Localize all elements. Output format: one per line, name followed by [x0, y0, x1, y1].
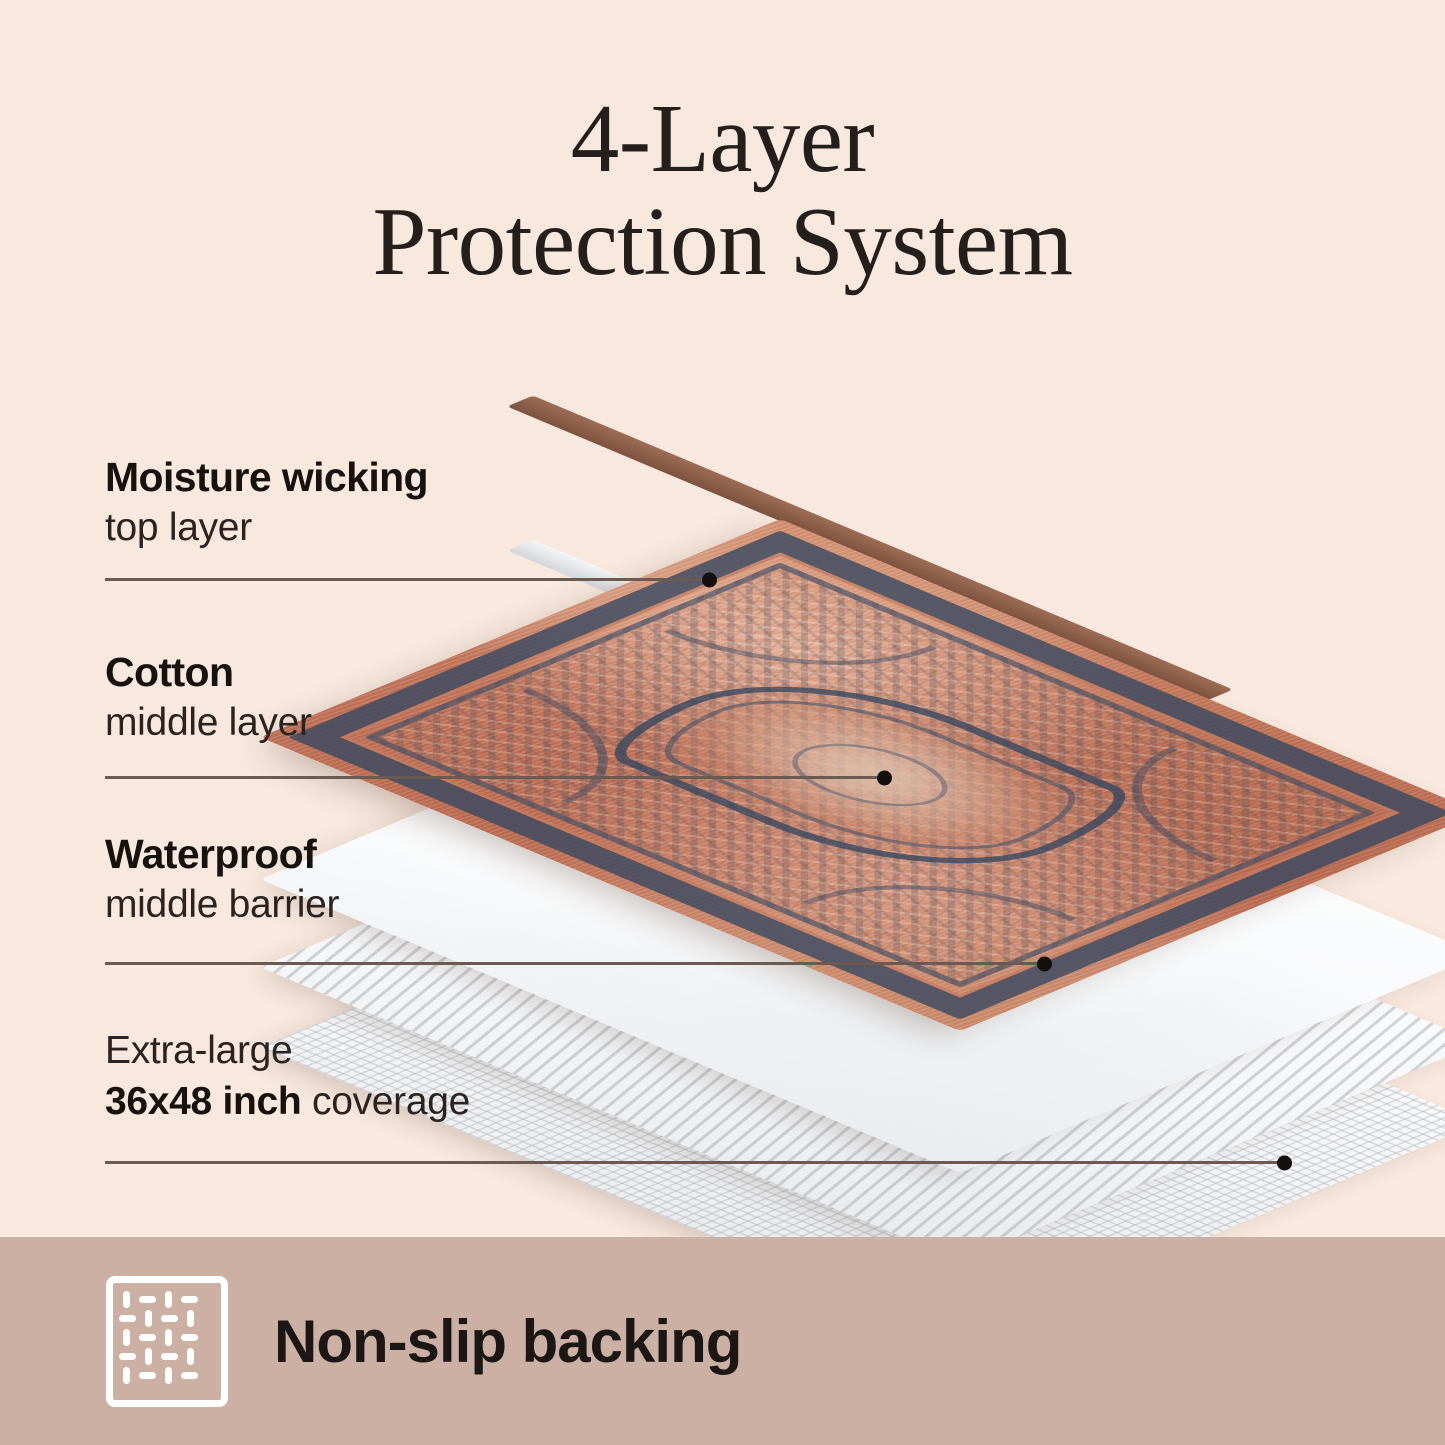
- callout-moisture-wicking: Moisture wicking top layer: [105, 455, 428, 552]
- page-title: 4-Layer Protection System: [0, 88, 1445, 294]
- leader-line-moisture-wicking: [105, 578, 710, 581]
- layer-stack-illustration: [480, 355, 1445, 1235]
- callout-size-coverage: Extra-large 36x48 inch coverage: [105, 1028, 470, 1126]
- leader-dot-waterproof: [1037, 956, 1052, 971]
- callout-title-cotton: Cotton: [105, 650, 312, 696]
- callout-waterproof: Waterproof middle barrier: [105, 832, 339, 929]
- leader-line-cotton: [105, 776, 885, 779]
- leader-dot-moisture-wicking: [702, 572, 717, 587]
- leader-line-waterproof: [105, 962, 1045, 965]
- callout-title-waterproof: Waterproof: [105, 832, 339, 878]
- footer-bar: Non-slip backing: [0, 1237, 1445, 1445]
- callout-size-line-2: 36x48 inch coverage: [105, 1079, 470, 1126]
- callout-subtitle-waterproof: middle barrier: [105, 882, 339, 929]
- callout-size-coverage-word: coverage: [301, 1080, 470, 1123]
- callout-size-line-1: Extra-large: [105, 1028, 470, 1075]
- title-line-1: 4-Layer: [0, 88, 1445, 191]
- callout-cotton: Cotton middle layer: [105, 650, 312, 747]
- callout-title-moisture-wicking: Moisture wicking: [105, 455, 428, 501]
- leader-dot-size: [1277, 1155, 1292, 1170]
- title-line-2: Protection System: [0, 191, 1445, 294]
- callout-subtitle-cotton: middle layer: [105, 700, 312, 747]
- callout-subtitle-moisture-wicking: top layer: [105, 505, 428, 552]
- leader-dot-cotton: [877, 770, 892, 785]
- footer-label: Non-slip backing: [274, 1307, 741, 1376]
- leader-line-size: [105, 1161, 1285, 1164]
- non-slip-grip-icon: [106, 1276, 228, 1407]
- callout-size-dimensions: 36x48 inch: [105, 1080, 301, 1123]
